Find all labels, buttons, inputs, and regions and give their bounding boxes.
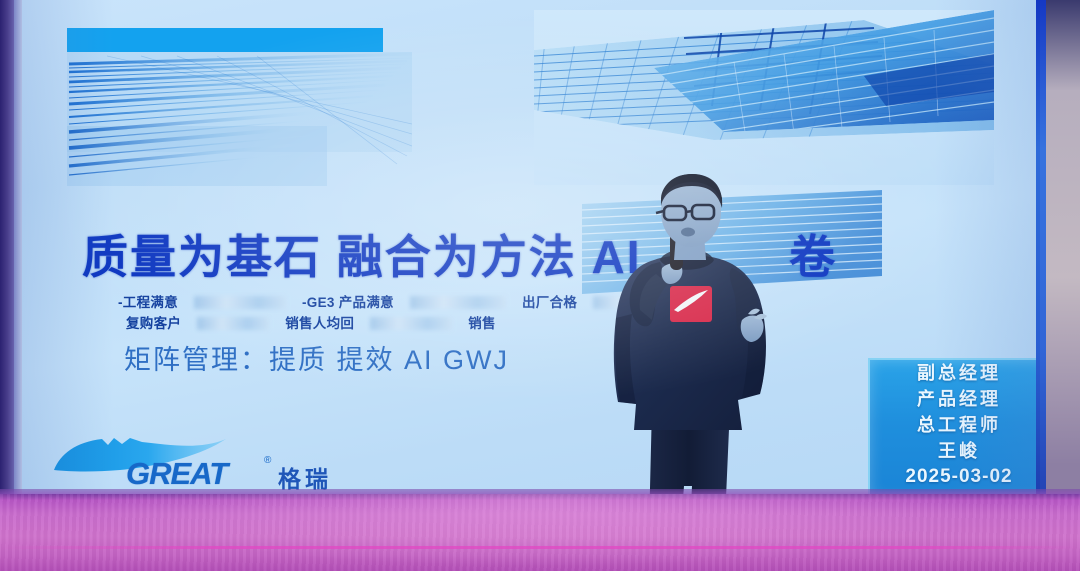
slide-metrics: -工程满意-GE3 产品满意出厂合格客户满意 复购客户销售人均回销售 (118, 292, 978, 334)
floor-seam (0, 546, 1080, 549)
left-graphic-block (67, 28, 412, 188)
metric-label: -GE3 产品满意 (302, 295, 394, 310)
stage-scene: 质量为基石 融合为方法 AI 卷 -工程满意-GE3 产品满意出厂合格客户满意 … (0, 0, 1080, 571)
great-logo: GREAT ® 格瑞特 (50, 436, 340, 492)
slide-headline: 质量为基石 融合为方法 AI 卷 (82, 228, 982, 286)
logo-wordmark: GREAT (126, 456, 227, 492)
metric-label: -工程满意 (118, 295, 178, 310)
metric-label: 出厂合格 (522, 295, 577, 310)
metrics-line-2: 复购客户销售人均回销售 (118, 313, 978, 334)
logo-registered-mark: ® (264, 455, 271, 466)
abstract-building-lines-icon (67, 28, 412, 188)
info-row-date: 2025-03-02 (870, 464, 1036, 490)
stage-floor (0, 494, 1080, 571)
redacted-value (370, 317, 452, 330)
redacted-value (410, 296, 506, 309)
right-wall (1040, 0, 1080, 505)
projection-screen: 质量为基石 融合为方法 AI 卷 -工程满意-GE3 产品满意出厂合格客户满意 … (22, 0, 1036, 497)
metric-label: 销售人均回 (285, 316, 354, 331)
info-row-title-3: 总工程师 (870, 412, 1036, 438)
redacted-value (194, 296, 286, 309)
metric-label: 复购客户 (126, 316, 181, 331)
skyscraper-upward-view-photo (534, 10, 994, 185)
speaker-info-box: 副总经理 产品经理 总工程师 王峻 2025-03-02 (868, 358, 1036, 497)
info-row-name: 王峻 (870, 438, 1036, 464)
redacted-value (197, 317, 269, 330)
info-row-title-2: 产品经理 (870, 386, 1036, 412)
presenter-figure (592, 168, 807, 497)
metrics-line-1: -工程满意-GE3 产品满意出厂合格客户满意 (118, 292, 978, 313)
headline-left-part: 质量为基石 融合为方法 AI (82, 231, 642, 283)
matrix-management-line: 矩阵管理：提质 提效 AI GWJ (124, 341, 509, 379)
info-row-title-1: 副总经理 (870, 360, 1036, 386)
metric-label: 销售 (468, 316, 496, 331)
